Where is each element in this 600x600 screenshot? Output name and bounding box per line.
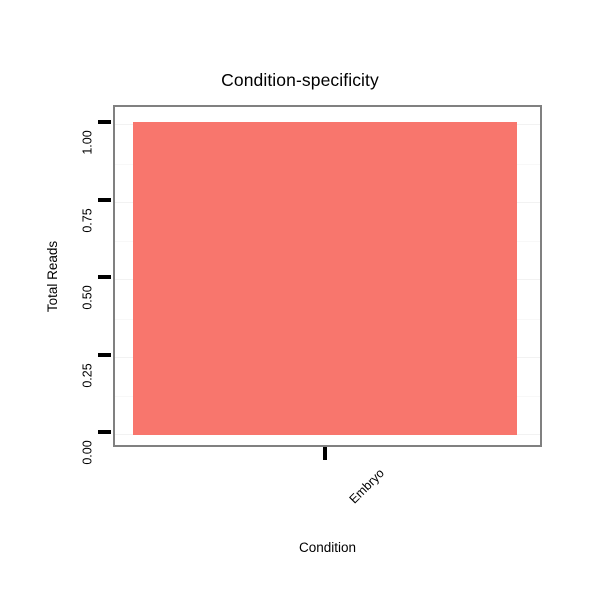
y-tick-mark-5 xyxy=(98,430,111,434)
y-tick-label-2: 0.75 xyxy=(82,201,95,241)
y-tick-label-4: 0.25 xyxy=(82,356,95,396)
y-tick-label-5: 0.00 xyxy=(82,433,95,473)
y-tick-mark-3 xyxy=(98,275,111,279)
plot-panel xyxy=(113,105,542,447)
y-tick-mark-2 xyxy=(98,198,111,202)
y-tick-mark-1 xyxy=(98,120,111,124)
y-tick-label-3: 0.50 xyxy=(82,278,95,318)
chart-canvas: Condition-specificity Total Reads 1.00 0… xyxy=(0,0,600,600)
page-title: Condition-specificity xyxy=(0,70,600,90)
y-tick-mark-4 xyxy=(98,353,111,357)
plot-panel-inner xyxy=(115,107,540,445)
x-tick-mark-1 xyxy=(323,447,327,460)
y-tick-label-1: 1.00 xyxy=(82,123,95,163)
x-axis-title: Condition xyxy=(113,540,542,556)
x-tick-label-embryo: Embryo xyxy=(347,466,387,506)
bar-embryo[interactable] xyxy=(133,122,517,435)
y-axis-title: Total Reads xyxy=(45,240,60,311)
